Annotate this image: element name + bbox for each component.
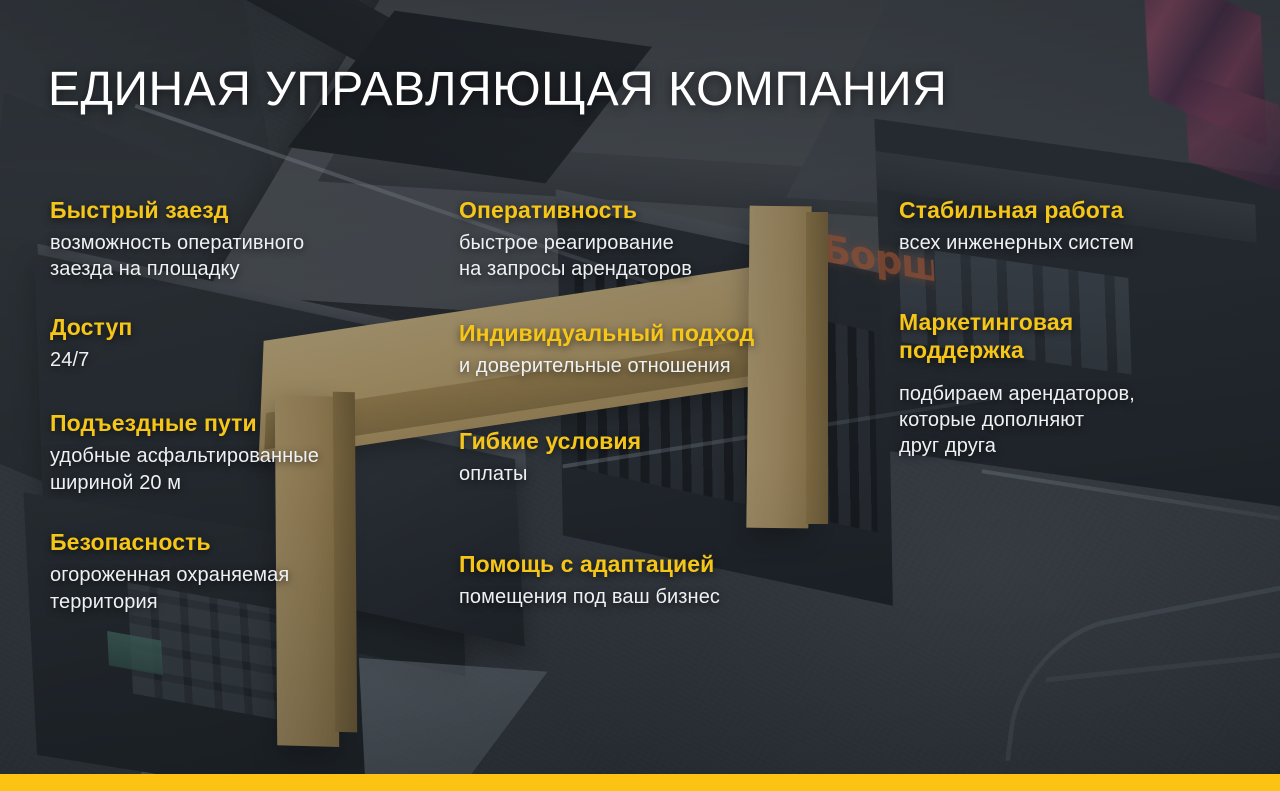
feature-item: Доступ 24/7: [50, 313, 440, 373]
feature-body: оплаты: [459, 461, 859, 487]
feature-item: Быстрый заезд возможность оперативного з…: [50, 196, 440, 283]
feature-heading: Помощь с адаптацией: [459, 550, 859, 578]
bottom-accent-bar: [0, 774, 1280, 791]
page-title: ЕДИНАЯ УПРАВЛЯЮЩАЯ КОМПАНИЯ: [48, 62, 947, 117]
feature-item: Помощь с адаптацией помещения под ваш би…: [459, 550, 859, 610]
feature-item: Индивидуальный подход и доверительные от…: [459, 319, 859, 379]
feature-item: Подъездные пути удобные асфальтированные…: [50, 409, 440, 496]
feature-item: Безопасность огороженная охраняемая терр…: [50, 528, 440, 615]
feature-body: подбираем арендаторов, которые дополняют…: [899, 381, 1259, 460]
slide-content: ЕДИНАЯ УПРАВЛЯЮЩАЯ КОМПАНИЯ Быстрый заез…: [0, 0, 1280, 791]
feature-body: помещения под ваш бизнес: [459, 584, 859, 610]
feature-heading: Быстрый заезд: [50, 196, 440, 224]
feature-body: всех инженерных систем: [899, 230, 1259, 256]
feature-heading: Безопасность: [50, 528, 440, 556]
feature-body: возможность оперативного заезда на площа…: [50, 230, 440, 283]
feature-heading: Маркетинговая поддержка: [899, 308, 1259, 364]
feature-column-1: Быстрый заезд возможность оперативного з…: [50, 196, 440, 619]
feature-body: огороженная охраняемая территория: [50, 562, 440, 615]
feature-heading: Стабильная работа: [899, 196, 1259, 224]
feature-heading: Подъездные пути: [50, 409, 440, 437]
feature-column-2: Оперативность быстрое реагирование на за…: [459, 196, 859, 614]
feature-body: быстрое реагирование на запросы арендато…: [459, 230, 859, 283]
feature-body: 24/7: [50, 347, 440, 373]
presentation-slide: Борщ ЕДИНАЯ УПРАВЛЯЮЩАЯ КОМПАНИЯ Быстрый…: [0, 0, 1280, 791]
feature-item: Маркетинговая поддержка подбираем аренда…: [899, 308, 1259, 459]
feature-item: Гибкие условия оплаты: [459, 427, 859, 487]
feature-body: удобные асфальтированные шириной 20 м: [50, 443, 440, 496]
feature-column-3: Стабильная работа всех инженерных систем…: [899, 196, 1259, 464]
feature-item: Оперативность быстрое реагирование на за…: [459, 196, 859, 283]
feature-item: Стабильная работа всех инженерных систем: [899, 196, 1259, 256]
feature-heading: Индивидуальный подход: [459, 319, 859, 347]
feature-heading: Оперативность: [459, 196, 859, 224]
feature-body: и доверительные отношения: [459, 353, 859, 379]
feature-heading: Гибкие условия: [459, 427, 859, 455]
feature-heading: Доступ: [50, 313, 440, 341]
